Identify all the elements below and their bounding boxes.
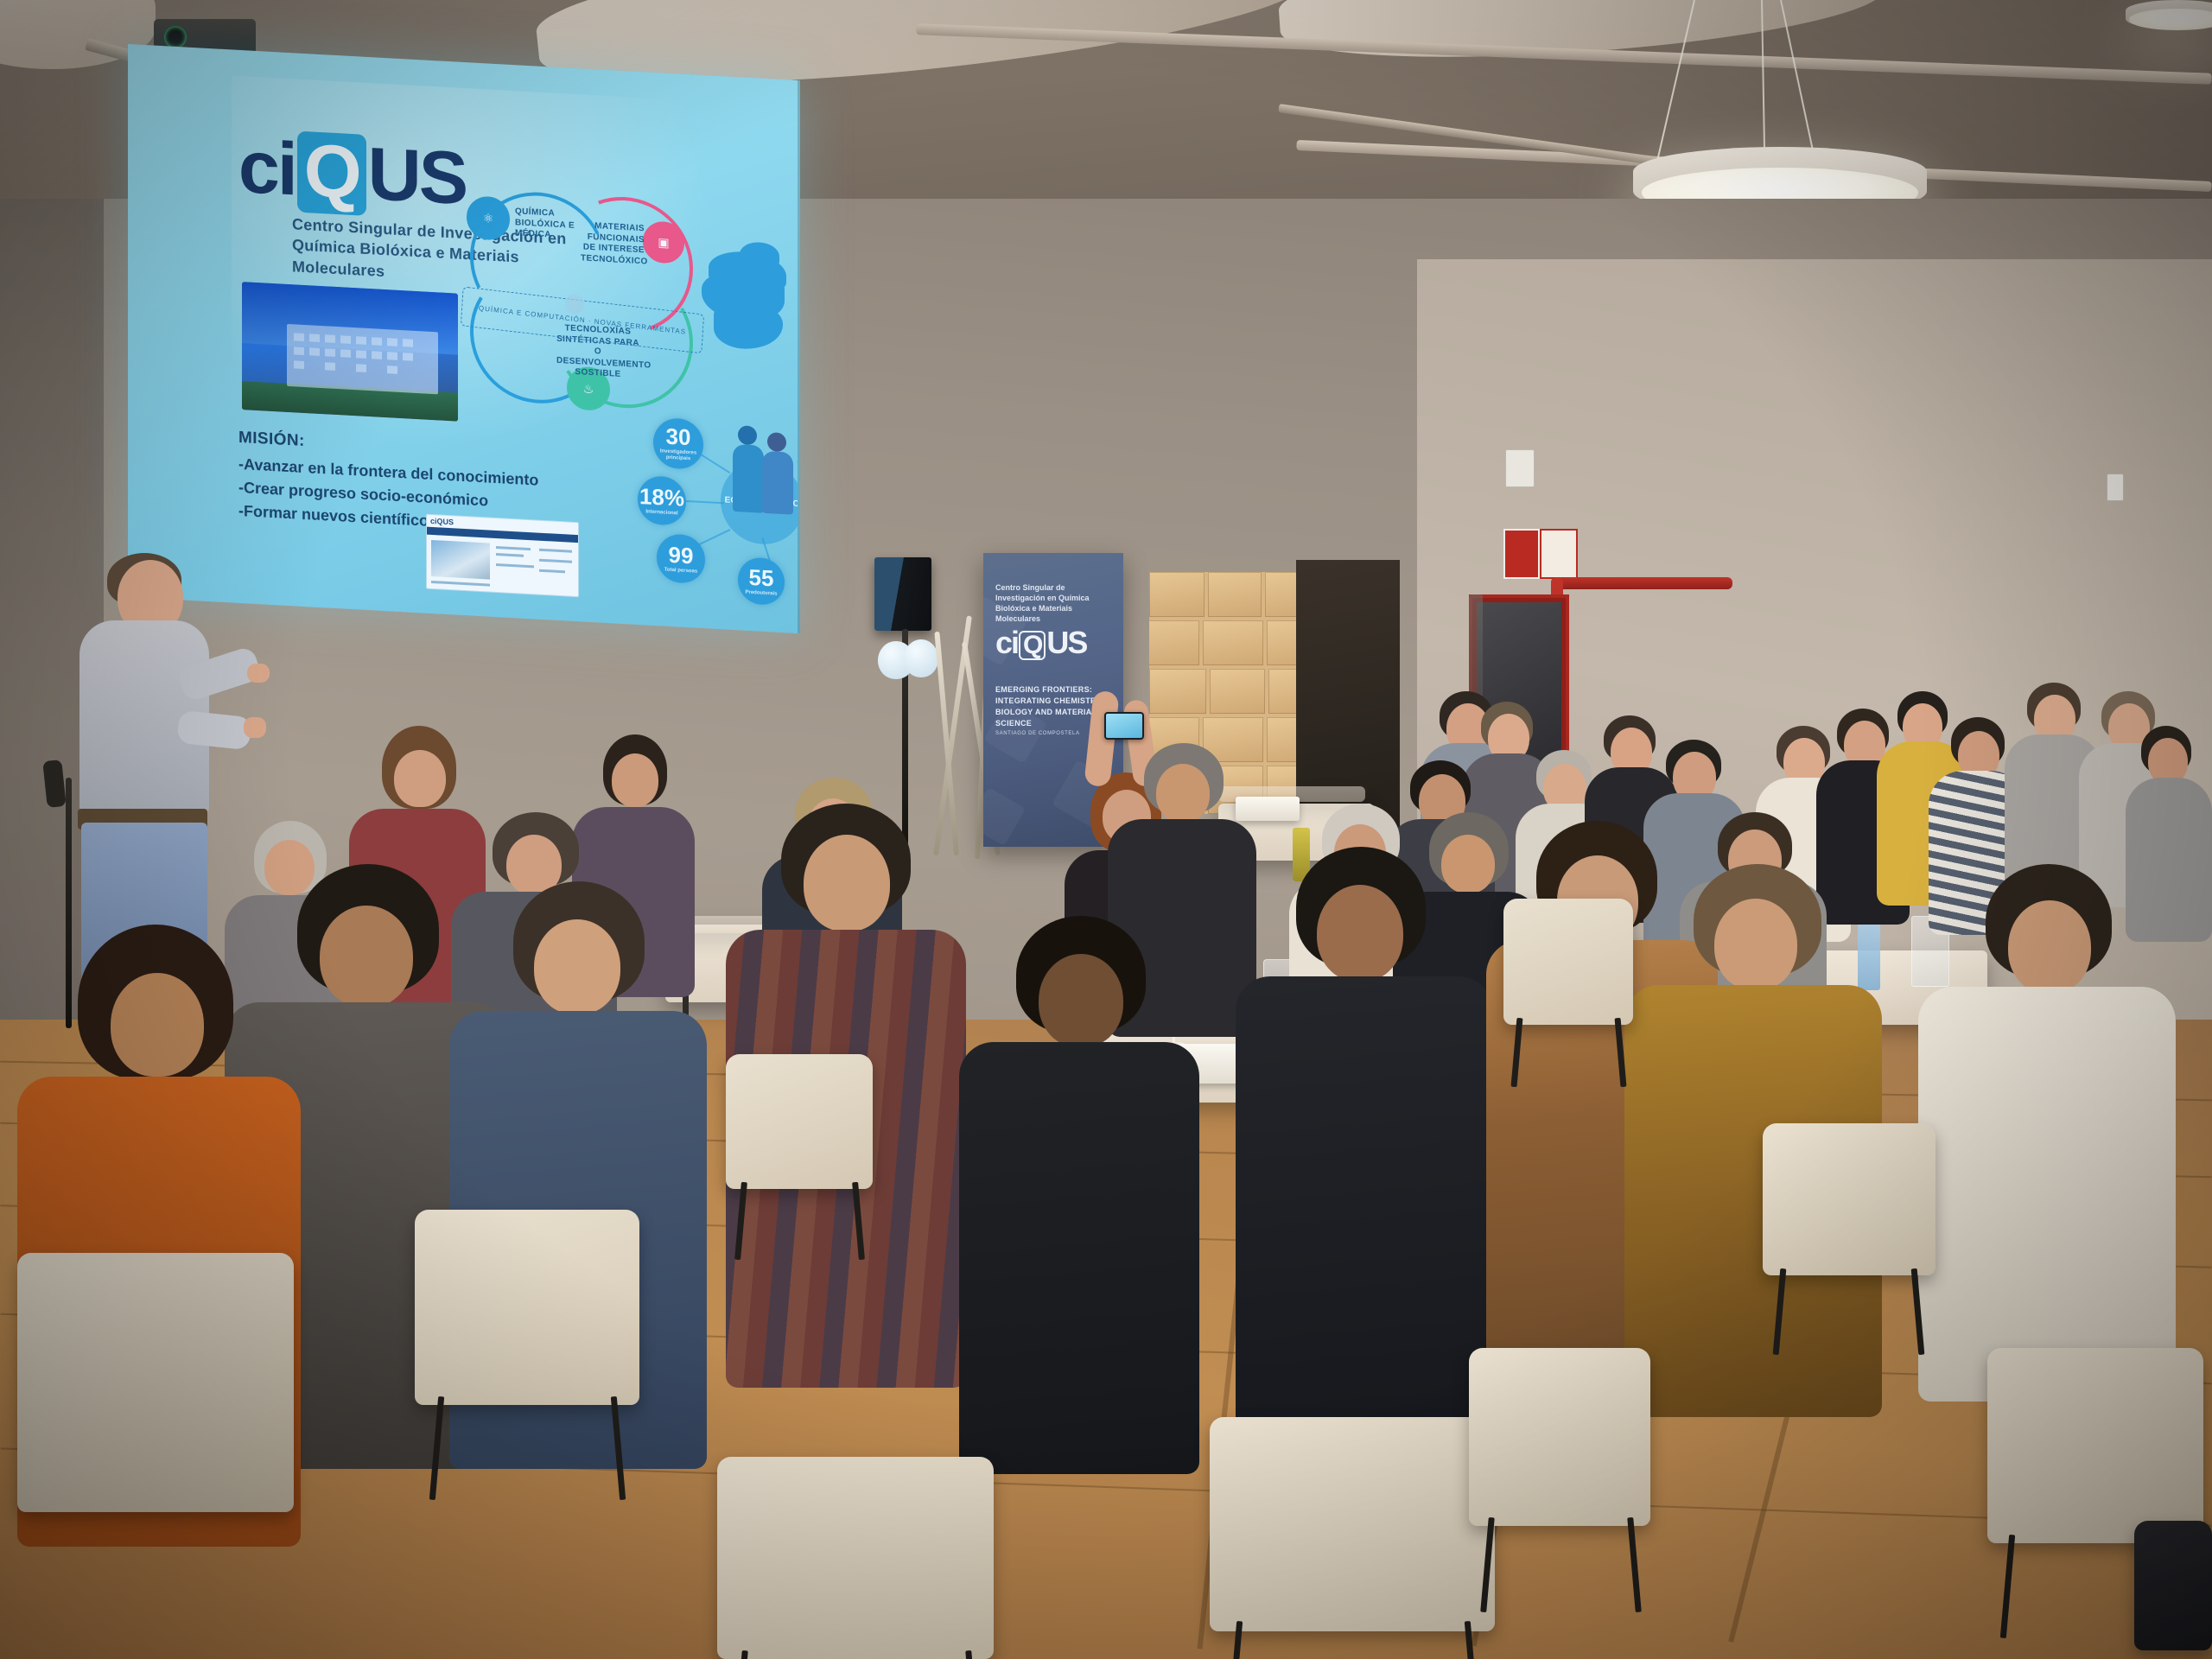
pa-speaker: [874, 557, 931, 631]
thumb-hero-image: [431, 540, 490, 580]
stat-value: 18%: [639, 485, 684, 510]
chair[interactable]: [717, 1457, 994, 1659]
stat-value: 55: [749, 566, 774, 590]
banner-logo: ciQUS: [995, 627, 1086, 660]
stat-value: 99: [669, 543, 694, 568]
pendant-lamp-secondary: [2126, 0, 2212, 29]
banner-logo-ci: ci: [995, 625, 1018, 660]
lamp-diffuser: [2129, 9, 2212, 29]
presenter-hand: [244, 717, 266, 738]
slide-logo-q: Q: [297, 131, 366, 216]
fire-extinguisher-sign: [1540, 529, 1578, 579]
banner-logo-us: US: [1046, 625, 1086, 660]
diagram-label: QUÍMICA BIOLÓXICA E MÉDICA: [515, 207, 584, 243]
slide-building-photo: [242, 282, 458, 422]
chair[interactable]: [1763, 1123, 1935, 1296]
chair[interactable]: [1469, 1348, 1650, 1547]
thumb-logo: ciQUS: [430, 517, 454, 526]
chair[interactable]: [2134, 1521, 2212, 1659]
stat-caption: Predoutorais: [745, 589, 777, 597]
diagram-center-node-icon: [565, 294, 584, 314]
stat-bubble: 30 Investigadores principais: [653, 417, 703, 470]
conference-room-photo: ciQUS Centro Singular de Investigación e…: [0, 0, 2212, 1659]
smoke-sensor: [1505, 449, 1535, 487]
fire-pipe: [1551, 577, 1732, 589]
slide-website-thumbnail: ciQUS: [426, 514, 579, 598]
slide-research-diagram: ⚛ ▣ ♨ QUÍMICA BIOLÓXICA E MÉDICA MATERIA…: [454, 182, 714, 438]
chair[interactable]: [726, 1054, 873, 1210]
slide-stats-cluster: 30 Investigadores principais 18% Interna…: [638, 404, 798, 604]
projector-lens-icon: [164, 26, 187, 48]
slide-galicia-map: [698, 231, 798, 365]
stat-bubble: 99 Total persoas: [657, 533, 705, 584]
foreground-audience-member: [1236, 847, 1495, 1434]
foreground-audience-member: [1918, 864, 2177, 1400]
chair[interactable]: [415, 1210, 639, 1426]
stat-caption: Investigadores principais: [657, 448, 700, 462]
banner-logo-q: Q: [1019, 631, 1046, 660]
stat-bubble: 18% Internacional: [638, 475, 686, 526]
presenter-hand: [247, 664, 270, 683]
chair[interactable]: [1503, 899, 1633, 1046]
chair[interactable]: [17, 1253, 294, 1538]
slide-logo-ci: ci: [238, 125, 296, 212]
stat-value: 30: [666, 425, 691, 449]
projection-screen: ciQUS Centro Singular de Investigación e…: [128, 44, 800, 633]
banner-date: SANTIAGO DE COMPOSTELA: [995, 731, 1080, 736]
slide-logo-us: US: [368, 132, 466, 220]
banner-top-line: Centro Singular de Investigación en Quím…: [995, 582, 1108, 625]
slide-logo: ciQUS: [238, 128, 466, 221]
stats-people-illustration: [733, 425, 797, 567]
smartphone[interactable]: [1104, 712, 1144, 740]
light-switch[interactable]: [2107, 474, 2124, 501]
chair[interactable]: [1210, 1417, 1495, 1659]
stat-caption: Internacional: [645, 509, 677, 517]
diagram-label: MATERIAIS FUNCIONAIS DE INTERESE TECNOLÓ…: [581, 220, 645, 267]
foreground-audience-member: [959, 916, 1201, 1469]
fire-safety-sign: [1503, 529, 1540, 579]
stat-caption: Total persoas: [664, 567, 698, 575]
phone-screen: [1106, 714, 1142, 738]
